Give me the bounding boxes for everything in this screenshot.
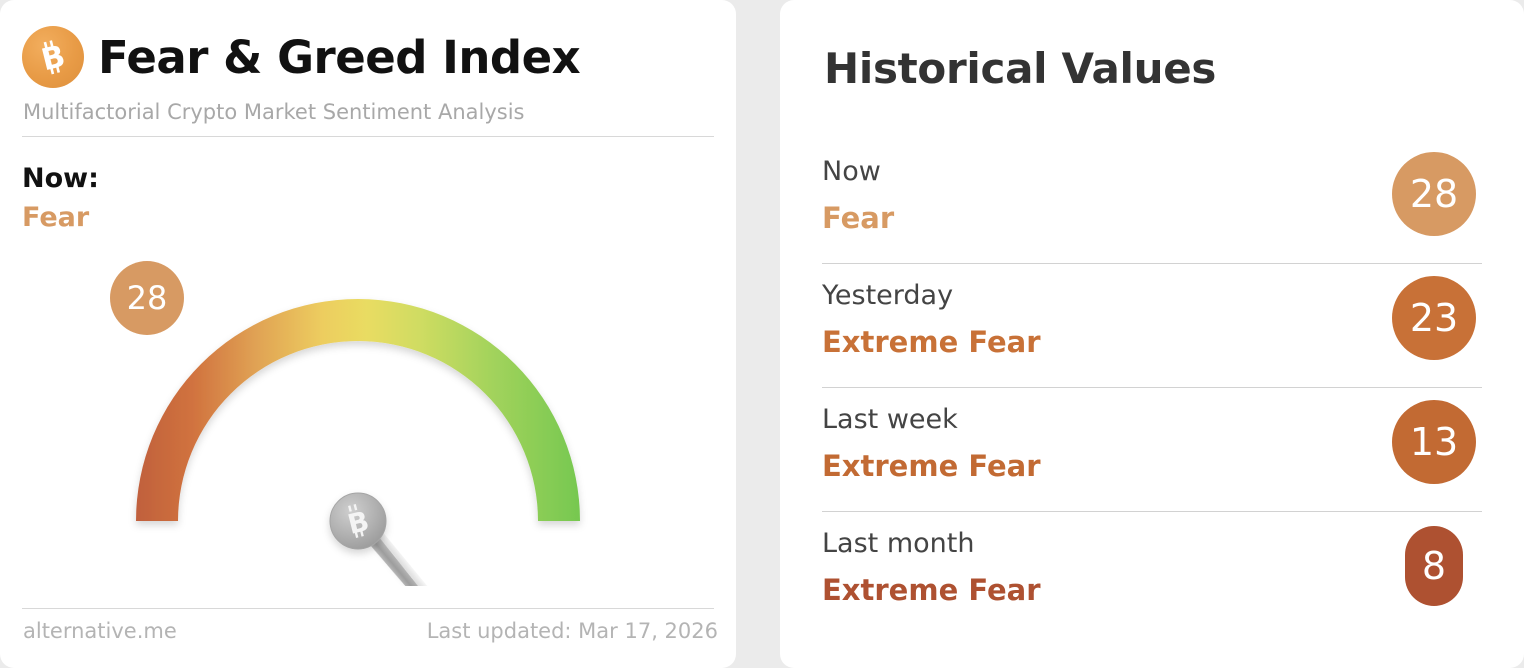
list-item[interactable]: Now Fear 28 [822,140,1482,264]
historical-values-card: Historical Values Now Fear 28 Yesterday … [780,0,1524,668]
period-label: Last week [822,404,958,435]
page-title: Fear & Greed Index [98,35,580,80]
period-label: Last month [822,528,974,559]
divider-bottom [22,608,714,609]
now-label: Now: [22,163,99,195]
list-item[interactable]: Yesterday Extreme Fear 23 [822,264,1482,388]
card-header: B Fear & Greed Index [22,26,580,88]
gauge-value-bubble: 28 [110,261,184,335]
fear-greed-gauge-card: B Fear & Greed Index Multifactorial Cryp… [0,0,736,668]
status-badge: 13 [1392,400,1476,484]
source-link[interactable]: alternative.me [23,619,177,643]
sentiment-label: Extreme Fear [822,449,1041,483]
page-root: B Fear & Greed Index Multifactorial Cryp… [0,0,1524,668]
sentiment-label: Fear [822,201,894,235]
historical-values-title: Historical Values [824,44,1216,93]
bitcoin-icon: B [22,26,84,88]
status-badge: 28 [1392,152,1476,236]
sentiment-label: Extreme Fear [822,573,1041,607]
divider-top [22,136,714,137]
list-item[interactable]: Last week Extreme Fear 13 [822,388,1482,512]
period-label: Yesterday [822,280,953,311]
period-label: Now [822,156,881,187]
sentiment-label: Extreme Fear [822,325,1041,359]
now-value: Fear [22,202,89,234]
list-item[interactable]: Last month Extreme Fear 8 [822,512,1482,636]
status-badge: 8 [1405,526,1463,606]
status-badge: 23 [1392,276,1476,360]
historical-values-list: Now Fear 28 Yesterday Extreme Fear 23 La… [822,140,1482,636]
last-updated-text: Last updated: Mar 17, 2026 [427,619,718,643]
page-subtitle: Multifactorial Crypto Market Sentiment A… [23,100,525,124]
